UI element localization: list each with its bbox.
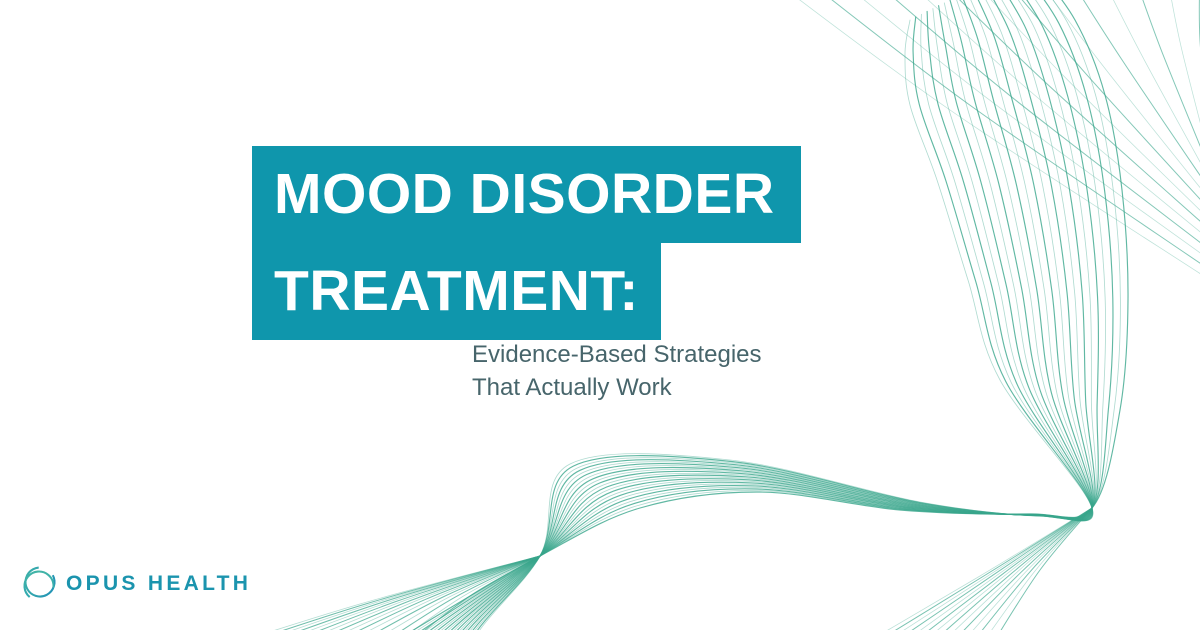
opus-circle-mark-icon	[18, 561, 64, 607]
logo: OPUS HEALTH	[18, 558, 251, 610]
subtitle-line-1: Evidence-Based Strategies	[472, 338, 892, 371]
page-subtitle: Evidence-Based Strategies That Actually …	[472, 338, 892, 404]
page-title: MOOD DISORDER TREATMENT:	[252, 146, 872, 340]
title-line-2: TREATMENT:	[252, 243, 661, 340]
logo-text: OPUS HEALTH	[66, 572, 251, 596]
slide-canvas: MOOD DISORDER TREATMENT: Evidence-Based …	[0, 0, 1200, 630]
title-line-1: MOOD DISORDER	[252, 146, 801, 243]
subtitle-line-2: That Actually Work	[472, 371, 892, 404]
